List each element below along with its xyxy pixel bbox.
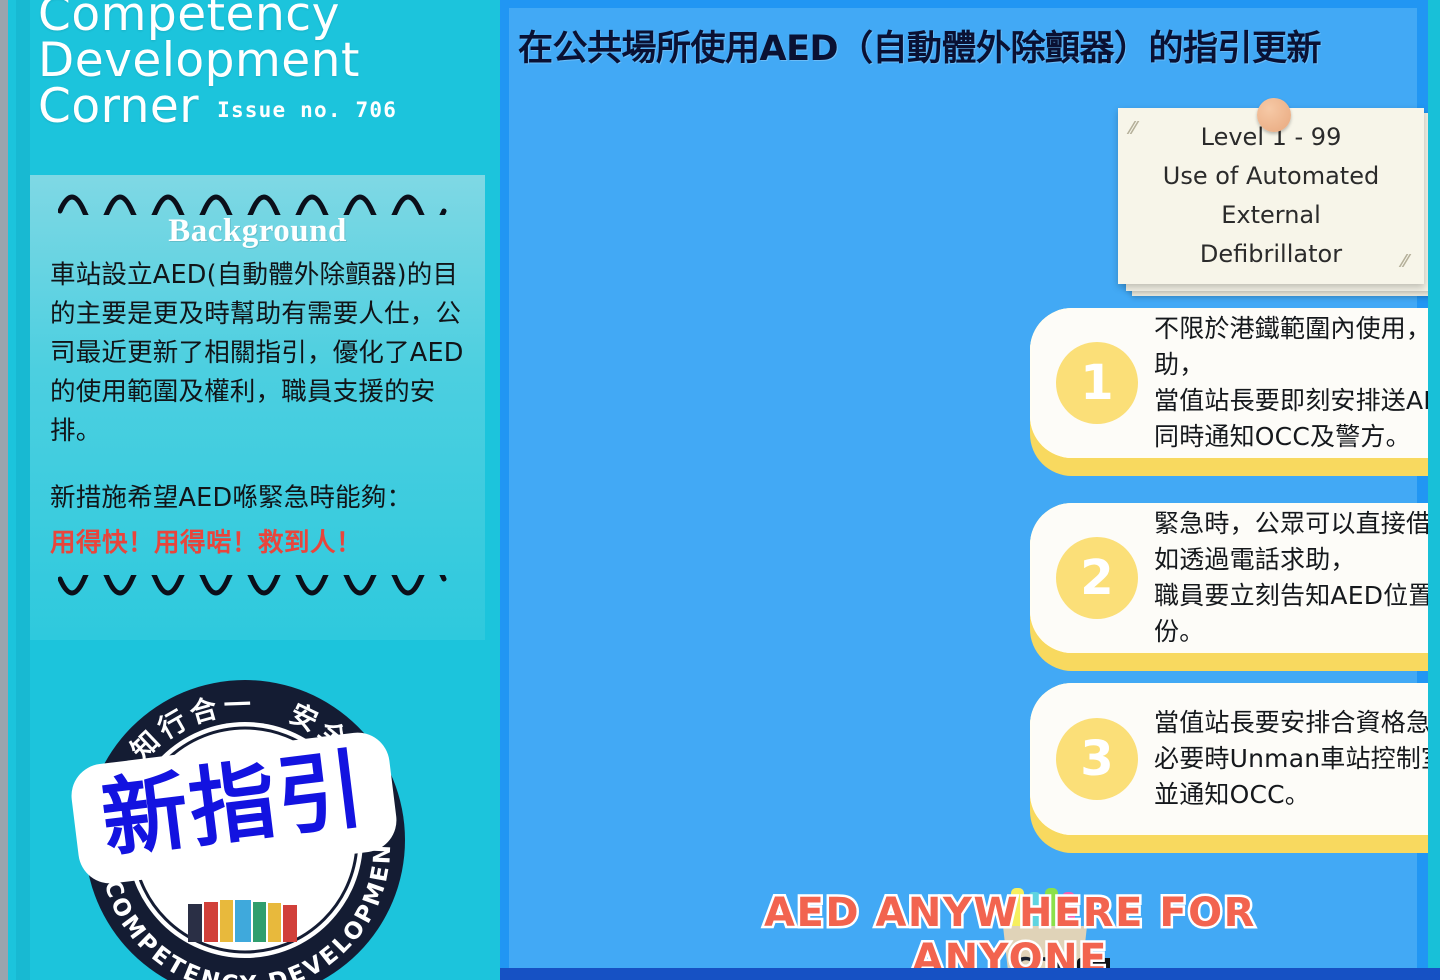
masthead-line-2: Development (38, 38, 488, 84)
point-number-3: 3 (1056, 718, 1138, 800)
bottom-blue-strip (500, 968, 1440, 980)
squiggle-divider-bottom-icon (58, 575, 458, 607)
point-3-line-2: 必要時Unman車站控制室， (1154, 741, 1440, 777)
background-paragraph-1: 車站設立AED(自動體外除顫器)的目的主要是更及時幫助有需要人仕，公司最近更新了… (50, 256, 467, 451)
background-heading: Background (30, 213, 485, 250)
left-edge-strip (0, 0, 8, 980)
point-2-line-1: 緊急時，公眾可以直接借用港鐵AED。 (1154, 506, 1440, 542)
point-1-line-1: 不限於港鐵範圍內使用，只要收到求助， (1154, 311, 1440, 383)
sticky-note-line-4: Defibrillator (1200, 235, 1342, 274)
point-text-1: 不限於港鐵範圍內使用，只要收到求助， 當值站長要即刻安排送AED去現場， 同時通… (1154, 311, 1440, 455)
sticky-note-line-3: External (1221, 196, 1321, 235)
right-panel: 在公共場所使用AED（自動體外除顫器）的指引更新 ⁄⁄ ⁄⁄ Level 1 -… (500, 0, 1440, 980)
background-slogan: 用得快！用得啱！救到人！ (50, 524, 467, 563)
point-card-2: 2 緊急時，公眾可以直接借用港鐵AED。 如透過電話求助， 職員要立刻告知AED… (1030, 503, 1440, 671)
sticky-note-sheet-front: ⁄⁄ ⁄⁄ Level 1 - 99 Use of Automated Exte… (1118, 108, 1424, 284)
push-pin-icon (1257, 98, 1291, 132)
sticky-note-line-2: Use of Automated (1163, 157, 1379, 196)
background-paragraph-2: 新措施希望AED喺緊急時能夠： (50, 479, 467, 518)
point-number-2: 2 (1056, 537, 1138, 619)
masthead-line-3: Corner (38, 84, 199, 130)
bottom-tagline: AED ANYWHERE FOR ANYONE (680, 890, 1340, 980)
note-corner-mark-br-icon: ⁄⁄ (1402, 251, 1408, 272)
point-2-line-3: 職員要立刻告知AED位置，無需查核身份。 (1154, 578, 1440, 650)
team-seal-group: 知行合一 安全同 COMPETENCY DEVELOPMENT TEAM (70, 672, 430, 980)
note-corner-mark-tl-icon: ⁄⁄ (1130, 118, 1136, 139)
point-3-line-1: 當值站長要安排合資格急救員支援， (1154, 705, 1440, 741)
point-3-line-3: 並通知OCC。 (1154, 777, 1440, 813)
point-text-3: 當值站長要安排合資格急救員支援， 必要時Unman車站控制室， 並通知OCC。 (1154, 705, 1440, 813)
right-edge-strip (1428, 0, 1440, 980)
point-1-line-3: 同時通知OCC及警方。 (1154, 419, 1440, 455)
point-1-line-2: 當值站長要即刻安排送AED去現場， (1154, 383, 1440, 419)
paragraph-gap (30, 451, 485, 473)
issue-number: Issue no. 706 (217, 98, 397, 130)
point-card-1-body: 1 不限於港鐵範圍內使用，只要收到求助， 當值站長要即刻安排送AED去現場， 同… (1030, 308, 1440, 458)
left-inner-strip (16, 0, 30, 980)
point-text-2: 緊急時，公眾可以直接借用港鐵AED。 如透過電話求助， 職員要立刻告知AED位置… (1154, 506, 1440, 650)
point-card-3-body: 3 當值站長要安排合資格急救員支援， 必要時Unman車站控制室， 並通知OCC… (1030, 683, 1440, 835)
sticky-note: ⁄⁄ ⁄⁄ Level 1 - 99 Use of Automated Exte… (1118, 108, 1440, 296)
left-panel: Competency Development Corner Issue no. … (8, 0, 500, 980)
point-number-1: 1 (1056, 342, 1138, 424)
poster-canvas: Competency Development Corner Issue no. … (0, 0, 1440, 980)
point-card-2-body: 2 緊急時，公眾可以直接借用港鐵AED。 如透過電話求助， 職員要立刻告知AED… (1030, 503, 1440, 653)
point-card-1: 1 不限於港鐵範圍內使用，只要收到求助， 當值站長要即刻安排送AED去現場， 同… (1030, 308, 1440, 476)
point-card-3: 3 當值站長要安排合資格急救員支援， 必要時Unman車站控制室， 並通知OCC… (1030, 683, 1440, 853)
squiggle-divider-top-icon (58, 181, 458, 215)
point-2-line-2: 如透過電話求助， (1154, 542, 1440, 578)
page-title: 在公共場所使用AED（自動體外除顫器）的指引更新 (518, 20, 1418, 71)
background-card: Background 車站設立AED(自動體外除顫器)的目的主要是更及時幫助有需… (30, 175, 485, 640)
masthead: Competency Development Corner Issue no. … (38, 0, 488, 130)
